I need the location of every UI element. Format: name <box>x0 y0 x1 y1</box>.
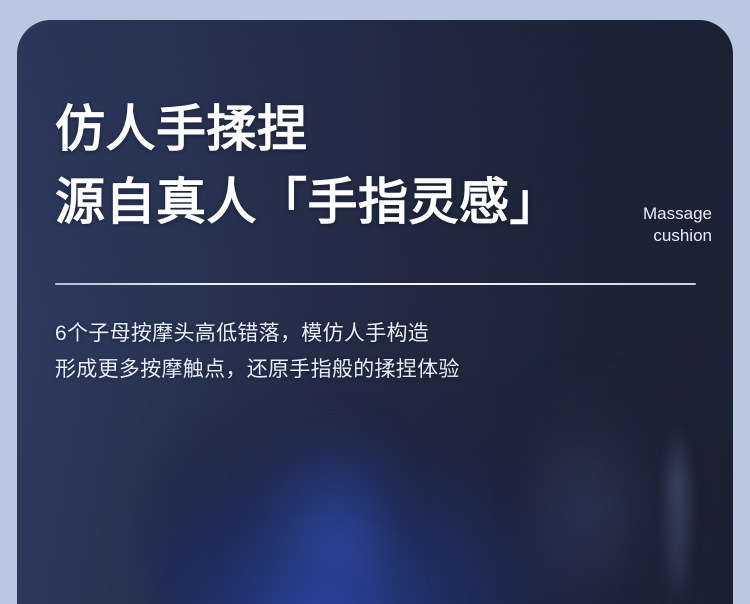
hero-card: 仿人手揉捏 源自真人「手指灵感」 Massage cushion 6个子母按摩头… <box>17 20 733 604</box>
banner-content: 仿人手揉捏 源自真人「手指灵感」 Massage cushion 6个子母按摩头… <box>17 20 733 604</box>
eyebrow-line-1: Massage <box>552 203 712 225</box>
headline: 仿人手揉捏 源自真人「手指灵感」 <box>55 93 575 239</box>
body-copy: 6个子母按摩头高低错落，模仿人手构造 形成更多按摩触点，还原手指般的揉捏体验 <box>55 316 655 388</box>
promo-banner: 仿人手揉捏 源自真人「手指灵感」 Massage cushion 6个子母按摩头… <box>0 0 750 604</box>
body-line-1: 6个子母按摩头高低错落，模仿人手构造 <box>55 316 655 352</box>
headline-line-2: 源自真人「手指灵感」 <box>55 166 575 239</box>
divider-rule <box>55 283 696 285</box>
headline-line-1: 仿人手揉捏 <box>55 93 575 166</box>
eyebrow-line-2: cushion <box>552 225 712 247</box>
body-line-2: 形成更多按摩触点，还原手指般的揉捏体验 <box>55 352 655 388</box>
eyebrow-label: Massage cushion <box>552 203 712 247</box>
